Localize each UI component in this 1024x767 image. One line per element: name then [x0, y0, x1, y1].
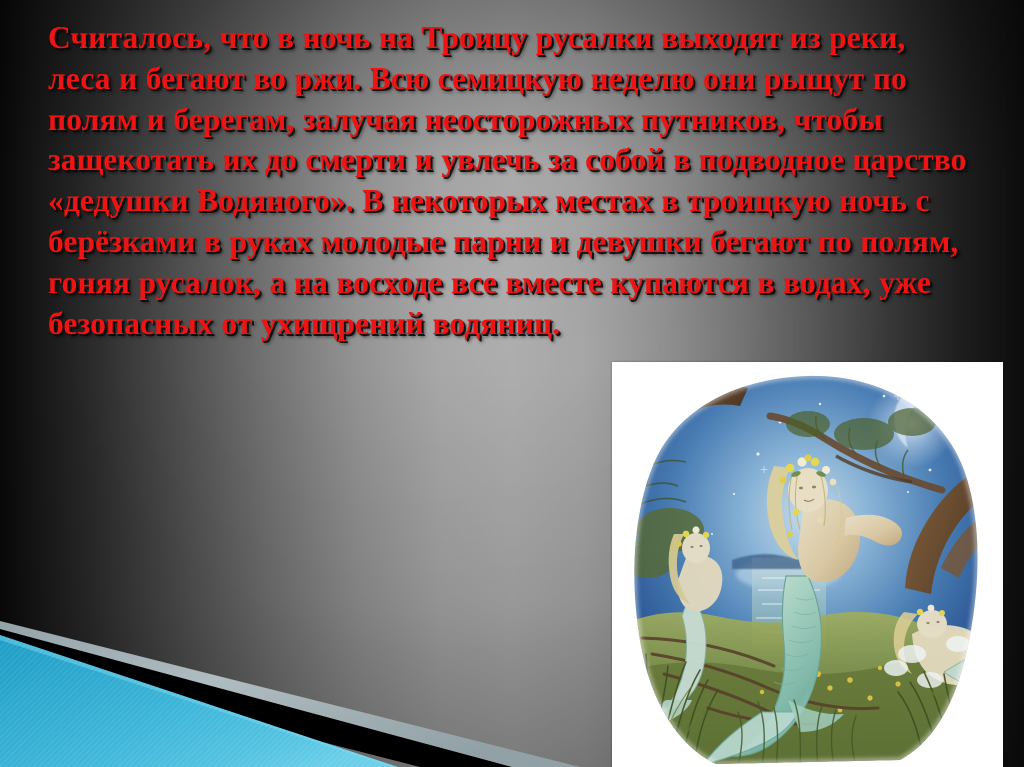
- silver-diagonal-stripe: [0, 621, 580, 767]
- presentation-slide: Считалось, что в ночь на Троицу русалки …: [0, 0, 1024, 767]
- cyan-band-highlight: [0, 635, 398, 767]
- cyan-diagonal-band: [0, 635, 398, 767]
- cyan-band-texture: [0, 607, 620, 767]
- black-diagonal-stripe: [0, 629, 512, 767]
- illustration-frame[interactable]: [612, 362, 1003, 767]
- illustration-image: [612, 362, 1003, 767]
- slide-body-text: Считалось, что в ночь на Троицу русалки …: [48, 18, 973, 344]
- corner-decoration: [0, 607, 620, 767]
- mermaids-illustration: [612, 362, 1003, 767]
